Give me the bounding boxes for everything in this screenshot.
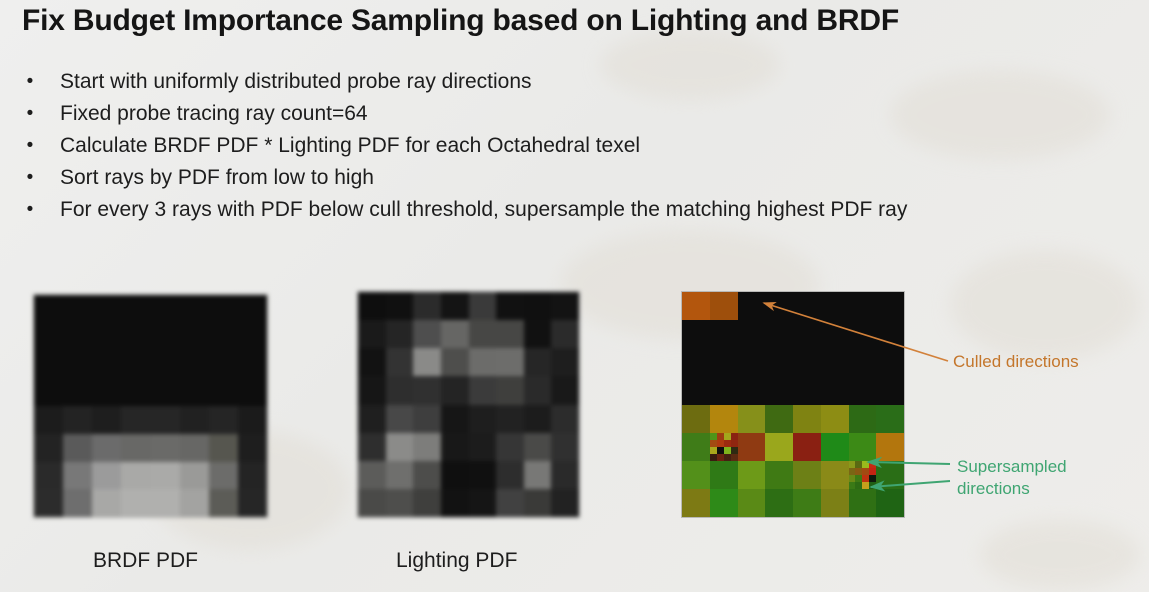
heatmap-cell [63, 489, 92, 517]
list-item: • Fixed probe tracing ray count=64 [0, 98, 1149, 130]
heatmap-cell [469, 376, 497, 404]
heatmap-cell [180, 378, 209, 406]
heatmap-cell [121, 462, 150, 490]
heatmap-subcell [731, 440, 738, 447]
heatmap-subcell [710, 440, 717, 447]
heatmap-cell [63, 323, 92, 351]
heatmap-subcell [862, 468, 869, 475]
heatmap-subcell [855, 475, 862, 482]
heatmap-subcell [717, 440, 724, 447]
heatmap-cell [358, 433, 386, 461]
heatmap-cell [151, 351, 180, 379]
heatmap-subcell [862, 475, 869, 482]
bullet-marker-icon: • [25, 130, 35, 162]
heatmap-cell [793, 433, 821, 461]
heatmap-cell [238, 351, 267, 379]
heatmap-cell [738, 433, 766, 461]
heatmap-cell [793, 320, 821, 348]
background-smudge [980, 520, 1140, 590]
heatmap-cell [551, 348, 579, 376]
heatmap-cell [92, 323, 121, 351]
heatmap-subcell [849, 468, 856, 475]
heatmap-cell [358, 320, 386, 348]
annotation-supersampled-directions: Supersampled directions [957, 456, 1067, 500]
heatmap-cell [209, 406, 238, 434]
heatmap-subcell [849, 475, 856, 482]
heatmap-cell [63, 295, 92, 323]
heatmap-cell [180, 434, 209, 462]
bullet-marker-icon: • [25, 98, 35, 130]
heatmap-subcell [855, 482, 862, 489]
heatmap-cell [386, 405, 414, 433]
heatmap-cell [551, 292, 579, 320]
heatmap-cell [209, 378, 238, 406]
heatmap-cell [441, 405, 469, 433]
heatmap-cell [849, 320, 877, 348]
heatmap-cell [441, 433, 469, 461]
list-item-text: For every 3 rays with PDF below cull thr… [60, 198, 907, 221]
heatmap-cell [151, 323, 180, 351]
heatmap-subcell [724, 433, 731, 440]
heatmap-cell [441, 461, 469, 489]
heatmap-cell [238, 406, 267, 434]
heatmap-cell [180, 351, 209, 379]
heatmap-cell [821, 320, 849, 348]
heatmap-cell [524, 405, 552, 433]
heatmap-cell [413, 320, 441, 348]
heatmap-subcell [724, 454, 731, 461]
heatmap-cell [386, 292, 414, 320]
list-item: • Sort rays by PDF from low to high [0, 162, 1149, 194]
heatmap-cell [849, 433, 877, 461]
heatmap-cell [180, 295, 209, 323]
heatmap-cell [469, 489, 497, 517]
heatmap-cell [34, 378, 63, 406]
heatmap-cell [121, 351, 150, 379]
heatmap-cell [821, 292, 849, 320]
heatmap-cell [849, 292, 877, 320]
heatmap-cell [238, 434, 267, 462]
heatmap-cell [180, 323, 209, 351]
heatmap-cell [710, 320, 738, 348]
heatmap-cell [121, 295, 150, 323]
heatmap-cell [765, 376, 793, 404]
heatmap-cell [34, 462, 63, 490]
annotation-culled-directions: Culled directions [953, 351, 1079, 373]
heatmap-cell [738, 348, 766, 376]
heatmap-cell [765, 461, 793, 489]
heatmap-cell [121, 323, 150, 351]
heatmap-cell [358, 348, 386, 376]
heatmap-cell [386, 461, 414, 489]
heatmap-cell [386, 433, 414, 461]
heatmap-cell [209, 351, 238, 379]
heatmap-cell [524, 489, 552, 517]
heatmap-cell [765, 292, 793, 320]
heatmap-cell [876, 433, 904, 461]
heatmap-cell [765, 433, 793, 461]
heatmap-subcell [731, 447, 738, 454]
figure-lighting-pdf [357, 291, 580, 518]
heatmap-cell [386, 320, 414, 348]
heatmap-cell [738, 461, 766, 489]
heatmap-cell [121, 406, 150, 434]
heatmap-cell [386, 489, 414, 517]
heatmap-subcell [731, 433, 738, 440]
heatmap-subcell [869, 461, 876, 468]
bullet-marker-icon: • [25, 66, 35, 98]
heatmap-cell [151, 489, 180, 517]
heatmap-cell [496, 320, 524, 348]
heatmap-cell [441, 320, 469, 348]
heatmap-cell [386, 376, 414, 404]
heatmap-cell [682, 348, 710, 376]
heatmap-cell [876, 320, 904, 348]
heatmap-subcell [717, 447, 724, 454]
annotation-supersampled-line1: Supersampled [957, 456, 1067, 478]
list-item: • Calculate BRDF PDF * Lighting PDF for … [0, 130, 1149, 162]
heatmap-cell [738, 405, 766, 433]
heatmap-cell [413, 376, 441, 404]
heatmap-cell [876, 292, 904, 320]
heatmap-cell [876, 348, 904, 376]
heatmap-cell [92, 489, 121, 517]
heatmap-cell [209, 462, 238, 490]
heatmap-cell [821, 461, 849, 489]
heatmap-cell [413, 292, 441, 320]
heatmap-cell [551, 320, 579, 348]
heatmap-cell [413, 489, 441, 517]
heatmap-cell [551, 405, 579, 433]
heatmap-cell [738, 320, 766, 348]
heatmap-cell [209, 295, 238, 323]
heatmap-cell [551, 376, 579, 404]
heatmap-cell [151, 406, 180, 434]
heatmap-cell [682, 376, 710, 404]
heatmap-cell [180, 462, 209, 490]
heatmap-cell [34, 489, 63, 517]
heatmap-cell [821, 376, 849, 404]
heatmap-cell [358, 461, 386, 489]
heatmap-cell [151, 295, 180, 323]
heatmap-subcell [862, 461, 869, 468]
heatmap-cell [358, 489, 386, 517]
heatmap-cell [358, 376, 386, 404]
heatmap-cell [209, 323, 238, 351]
heatmap-cell [793, 405, 821, 433]
bullet-marker-icon: • [25, 162, 35, 194]
heatmap-cell [441, 376, 469, 404]
heatmap-cell [710, 489, 738, 517]
heatmap-cell [765, 320, 793, 348]
heatmap-cell [876, 376, 904, 404]
heatmap-cell [413, 433, 441, 461]
heatmap-cell [821, 433, 849, 461]
heatmap-cell [63, 462, 92, 490]
heatmap-cell [413, 461, 441, 489]
list-item: • For every 3 rays with PDF below cull t… [0, 194, 1149, 226]
heatmap-cell [793, 348, 821, 376]
heatmap-cell [34, 406, 63, 434]
heatmap-subcell [710, 447, 717, 454]
heatmap-cell [92, 295, 121, 323]
heatmap-cell [180, 406, 209, 434]
heatmap-cell [121, 378, 150, 406]
heatmap-cell [180, 489, 209, 517]
list-item-text: Fixed probe tracing ray count=64 [60, 102, 368, 125]
bullet-list: • Start with uniformly distributed probe… [0, 66, 1149, 226]
heatmap-cell [469, 405, 497, 433]
heatmap-cell [121, 489, 150, 517]
heatmap-cell [849, 489, 877, 517]
heatmap-subcell [724, 447, 731, 454]
list-item: • Start with uniformly distributed probe… [0, 66, 1149, 98]
slide-canvas: Fix Budget Importance Sampling based on … [0, 0, 1149, 592]
heatmap-cell [793, 461, 821, 489]
heatmap-cell [738, 292, 766, 320]
heatmap-cell [209, 434, 238, 462]
heatmap-subcell [717, 454, 724, 461]
heatmap-subcell [862, 482, 869, 489]
heatmap-cell [441, 489, 469, 517]
heatmap-cell [34, 351, 63, 379]
heatmap-cell [765, 405, 793, 433]
heatmap-cell [710, 376, 738, 404]
heatmap-cell [92, 351, 121, 379]
heatmap-cell [358, 292, 386, 320]
heatmap-cell [358, 405, 386, 433]
heatmap-subcell [855, 461, 862, 468]
heatmap-cell [63, 351, 92, 379]
heatmap-cell [238, 489, 267, 517]
heatmap-subcell [849, 461, 856, 468]
page-title: Fix Budget Importance Sampling based on … [22, 4, 899, 38]
list-item-text: Start with uniformly distributed probe r… [60, 70, 532, 93]
heatmap-cell [151, 378, 180, 406]
heatmap-subcell [724, 440, 731, 447]
heatmap-cell [682, 320, 710, 348]
heatmap-cell [793, 489, 821, 517]
heatmap-cell [92, 434, 121, 462]
heatmap-subcell [710, 433, 717, 440]
heatmap-cell [63, 406, 92, 434]
heatmap-cell [63, 378, 92, 406]
heatmap-cell [209, 489, 238, 517]
heatmap-cell [876, 489, 904, 517]
heatmap-cell [413, 405, 441, 433]
heatmap-cell [876, 405, 904, 433]
heatmap-cell [710, 461, 738, 489]
heatmap-cell [92, 406, 121, 434]
heatmap-cell [469, 320, 497, 348]
heatmap-cell [386, 348, 414, 376]
heatmap-cell [682, 461, 710, 489]
heatmap-cell [413, 348, 441, 376]
heatmap-subcell [869, 468, 876, 475]
heatmap-cell [682, 489, 710, 517]
heatmap-cell [92, 462, 121, 490]
heatmap-cell [793, 292, 821, 320]
heatmap-cell [238, 323, 267, 351]
heatmap-cell [551, 461, 579, 489]
heatmap-cell [682, 433, 710, 461]
heatmap-cell [738, 489, 766, 517]
heatmap-cell [34, 323, 63, 351]
heatmap-cell [765, 489, 793, 517]
heatmap-cell [710, 348, 738, 376]
heatmap-cell [765, 348, 793, 376]
heatmap-subcell [710, 454, 717, 461]
heatmap-cell [496, 292, 524, 320]
heatmap-cell [238, 295, 267, 323]
heatmap-cell [469, 433, 497, 461]
heatmap-cell [849, 461, 877, 489]
heatmap-cell [441, 292, 469, 320]
heatmap-cell [34, 295, 63, 323]
heatmap-cell [496, 405, 524, 433]
heatmap-cell [151, 434, 180, 462]
heatmap-cell [496, 376, 524, 404]
heatmap-cell [441, 348, 469, 376]
heatmap-cell [849, 348, 877, 376]
heatmap-cell [849, 376, 877, 404]
annotation-supersampled-line2: directions [957, 478, 1067, 500]
heatmap-subcell [869, 482, 876, 489]
heatmap-cell [682, 405, 710, 433]
heatmap-cell [524, 348, 552, 376]
heatmap-cell [151, 462, 180, 490]
figure-sampled-directions [681, 291, 905, 518]
heatmap-cell [524, 292, 552, 320]
list-item-text: Calculate BRDF PDF * Lighting PDF for ea… [60, 134, 640, 157]
heatmap-subcell [869, 475, 876, 482]
heatmap-cell [821, 348, 849, 376]
heatmap-cell [469, 348, 497, 376]
heatmap-cell [92, 378, 121, 406]
heatmap-cell [496, 489, 524, 517]
heatmap-cell [551, 489, 579, 517]
list-item-text: Sort rays by PDF from low to high [60, 166, 374, 189]
heatmap-cell [63, 434, 92, 462]
figure-brdf-pdf [33, 294, 268, 518]
heatmap-cell [682, 292, 710, 320]
heatmap-cell [821, 489, 849, 517]
heatmap-cell [524, 320, 552, 348]
heatmap-cell [524, 376, 552, 404]
figure-caption-brdf: BRDF PDF [93, 549, 198, 573]
heatmap-cell [551, 433, 579, 461]
heatmap-cell [496, 433, 524, 461]
heatmap-cell [496, 461, 524, 489]
heatmap-subcell [855, 468, 862, 475]
heatmap-cell [738, 376, 766, 404]
heatmap-subcell [849, 482, 856, 489]
heatmap-cell [524, 433, 552, 461]
heatmap-cell [496, 348, 524, 376]
heatmap-cell [238, 462, 267, 490]
bullet-marker-icon: • [25, 194, 35, 226]
heatmap-cell [524, 461, 552, 489]
heatmap-cell [710, 405, 738, 433]
heatmap-cell [710, 292, 738, 320]
heatmap-cell [469, 292, 497, 320]
heatmap-cell [876, 461, 904, 489]
heatmap-cell [238, 378, 267, 406]
heatmap-cell [121, 434, 150, 462]
heatmap-cell [849, 405, 877, 433]
heatmap-cell [34, 434, 63, 462]
heatmap-subcell [731, 454, 738, 461]
heatmap-cell [710, 433, 738, 461]
heatmap-subcell [717, 433, 724, 440]
figure-caption-lighting: Lighting PDF [396, 549, 517, 573]
heatmap-cell [793, 376, 821, 404]
background-smudge [950, 250, 1140, 360]
heatmap-cell [821, 405, 849, 433]
heatmap-cell [469, 461, 497, 489]
